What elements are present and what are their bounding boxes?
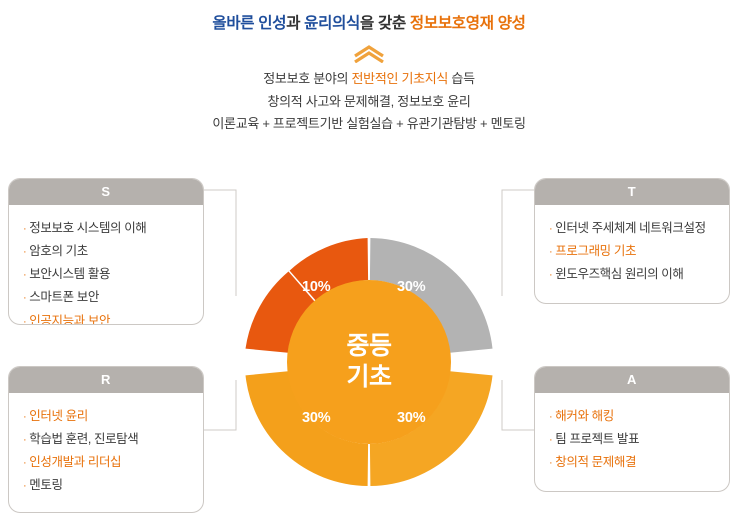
chevron-up-icon	[0, 42, 738, 64]
card-a-body: ·해커와 해킹 ·팀 프로젝트 발표 ·창의적 문제해결	[535, 393, 729, 484]
page-title-segment-1: 올바른 인성	[212, 15, 286, 32]
bullet-icon: ·	[549, 246, 552, 258]
card-a: A ·해커와 해킹 ·팀 프로젝트 발표 ·창의적 문제해결	[534, 366, 730, 492]
list-item-label: 스마트폰 보안	[29, 290, 99, 304]
list-item-label: 정보보호 시스템의 이해	[29, 221, 146, 235]
list-item-label: 학습법 훈련, 진로탐색	[29, 432, 138, 446]
bullet-icon: ·	[549, 269, 552, 281]
list-item-label: 인터넷 주세체계 네트워크설정	[555, 221, 705, 235]
list-item: ·해커와 해킹	[549, 405, 715, 428]
card-t-body: ·인터넷 주세체계 네트워크설정 ·프로그래밍 기초 ·윈도우즈핵심 원리의 이…	[535, 205, 729, 296]
card-r-list: ·인터넷 윤리 ·학습법 훈련, 진로탐색 ·인성개발과 리더십 ·멘토링	[23, 405, 189, 498]
card-r-body: ·인터넷 윤리 ·학습법 훈련, 진로탐색 ·인성개발과 리더십 ·멘토링	[9, 393, 203, 508]
list-item: ·팀 프로젝트 발표	[549, 428, 715, 451]
list-item: ·인공지능과 보안	[23, 310, 189, 326]
bullet-icon: ·	[23, 223, 26, 235]
list-item: ·정보보호 시스템의 이해	[23, 217, 189, 240]
card-s: S ·정보보호 시스템의 이해 ·암호의 기초 ·보안시스템 활용 ·스마트폰 …	[8, 178, 204, 325]
subtitle-line-1-text-before: 정보보호 분야의	[263, 71, 351, 86]
list-item: ·멘토링	[23, 474, 189, 497]
header: 올바른 인성과 윤리의식을 갖춘 정보보호영재 양성 정보보호 분야의 전반적인…	[0, 0, 738, 135]
list-item-label: 해커와 해킹	[555, 409, 614, 423]
list-item: ·스마트폰 보안	[23, 286, 189, 309]
list-item-label: 프로그래밍 기초	[555, 244, 636, 258]
list-item-label: 보안시스템 활용	[29, 267, 110, 281]
page-title-segment-4: 을 갖춘	[360, 15, 410, 32]
subtitle-line-3: 이론교육 + 프로젝트기반 실험실습 + 유관기관탐방 + 멘토링	[0, 113, 738, 135]
subtitle-line-1-highlight: 전반적인 기초지식	[352, 71, 449, 86]
bullet-icon: ·	[549, 223, 552, 235]
page-title-segment-2: 과	[286, 15, 304, 32]
list-item-label: 팀 프로젝트 발표	[555, 432, 639, 446]
list-item: ·보안시스템 활용	[23, 263, 189, 286]
subtitle-block: 정보보호 분야의 전반적인 기초지식 습득 창의적 사고와 문제해결, 정보보호…	[0, 68, 738, 135]
page-title-segment-3: 윤리의식	[304, 15, 360, 32]
bullet-icon: ·	[23, 457, 26, 469]
bullet-icon: ·	[23, 246, 26, 258]
bullet-icon: ·	[23, 292, 26, 304]
card-a-list: ·해커와 해킹 ·팀 프로젝트 발표 ·창의적 문제해결	[549, 405, 715, 474]
donut-chart: 중등 기초 30% 30% 30% 10%	[239, 232, 499, 492]
list-item: ·암호의 기초	[23, 240, 189, 263]
card-s-header: S	[9, 179, 203, 205]
list-item-label: 윈도우즈핵심 원리의 이해	[555, 267, 683, 281]
list-item: ·창의적 문제해결	[549, 451, 715, 474]
donut-center-circle	[287, 280, 451, 444]
bullet-icon: ·	[549, 434, 552, 446]
bullet-icon: ·	[23, 316, 26, 326]
bullet-icon: ·	[23, 434, 26, 446]
list-item: ·윈도우즈핵심 원리의 이해	[549, 263, 715, 286]
card-r: R ·인터넷 윤리 ·학습법 훈련, 진로탐색 ·인성개발과 리더십 ·멘토링	[8, 366, 204, 513]
page-title: 올바른 인성과 윤리의식을 갖춘 정보보호영재 양성	[0, 14, 738, 34]
list-item-label: 인공지능과 보안	[29, 314, 110, 326]
card-t: T ·인터넷 주세체계 네트워크설정 ·프로그래밍 기초 ·윈도우즈핵심 원리의…	[534, 178, 730, 304]
list-item-label: 암호의 기초	[29, 244, 88, 258]
list-item-label: 창의적 문제해결	[555, 455, 636, 469]
card-s-list: ·정보보호 시스템의 이해 ·암호의 기초 ·보안시스템 활용 ·스마트폰 보안…	[23, 217, 189, 325]
subtitle-line-2: 창의적 사고와 문제해결, 정보보호 윤리	[0, 91, 738, 113]
page-title-segment-5: 정보보호영재 양성	[410, 15, 526, 32]
list-item: ·인터넷 윤리	[23, 405, 189, 428]
list-item-label: 인성개발과 리더십	[29, 455, 121, 469]
subtitle-line-1: 정보보호 분야의 전반적인 기초지식 습득	[0, 68, 738, 90]
list-item: ·프로그래밍 기초	[549, 240, 715, 263]
list-item: ·학습법 훈련, 진로탐색	[23, 428, 189, 451]
bullet-icon: ·	[549, 457, 552, 469]
list-item-label: 인터넷 윤리	[29, 409, 88, 423]
bullet-icon: ·	[23, 480, 26, 492]
card-s-body: ·정보보호 시스템의 이해 ·암호의 기초 ·보안시스템 활용 ·스마트폰 보안…	[9, 205, 203, 325]
list-item: ·인성개발과 리더십	[23, 451, 189, 474]
bullet-icon: ·	[549, 411, 552, 423]
card-a-header: A	[535, 367, 729, 393]
list-item: ·인터넷 주세체계 네트워크설정	[549, 217, 715, 240]
list-item-label: 멘토링	[29, 478, 62, 492]
bullet-icon: ·	[23, 411, 26, 423]
bullet-icon: ·	[23, 269, 26, 281]
card-t-list: ·인터넷 주세체계 네트워크설정 ·프로그래밍 기초 ·윈도우즈핵심 원리의 이…	[549, 217, 715, 286]
subtitle-line-1-text-after: 습득	[448, 71, 475, 86]
card-r-header: R	[9, 367, 203, 393]
card-t-header: T	[535, 179, 729, 205]
donut-chart-svg	[239, 232, 499, 492]
